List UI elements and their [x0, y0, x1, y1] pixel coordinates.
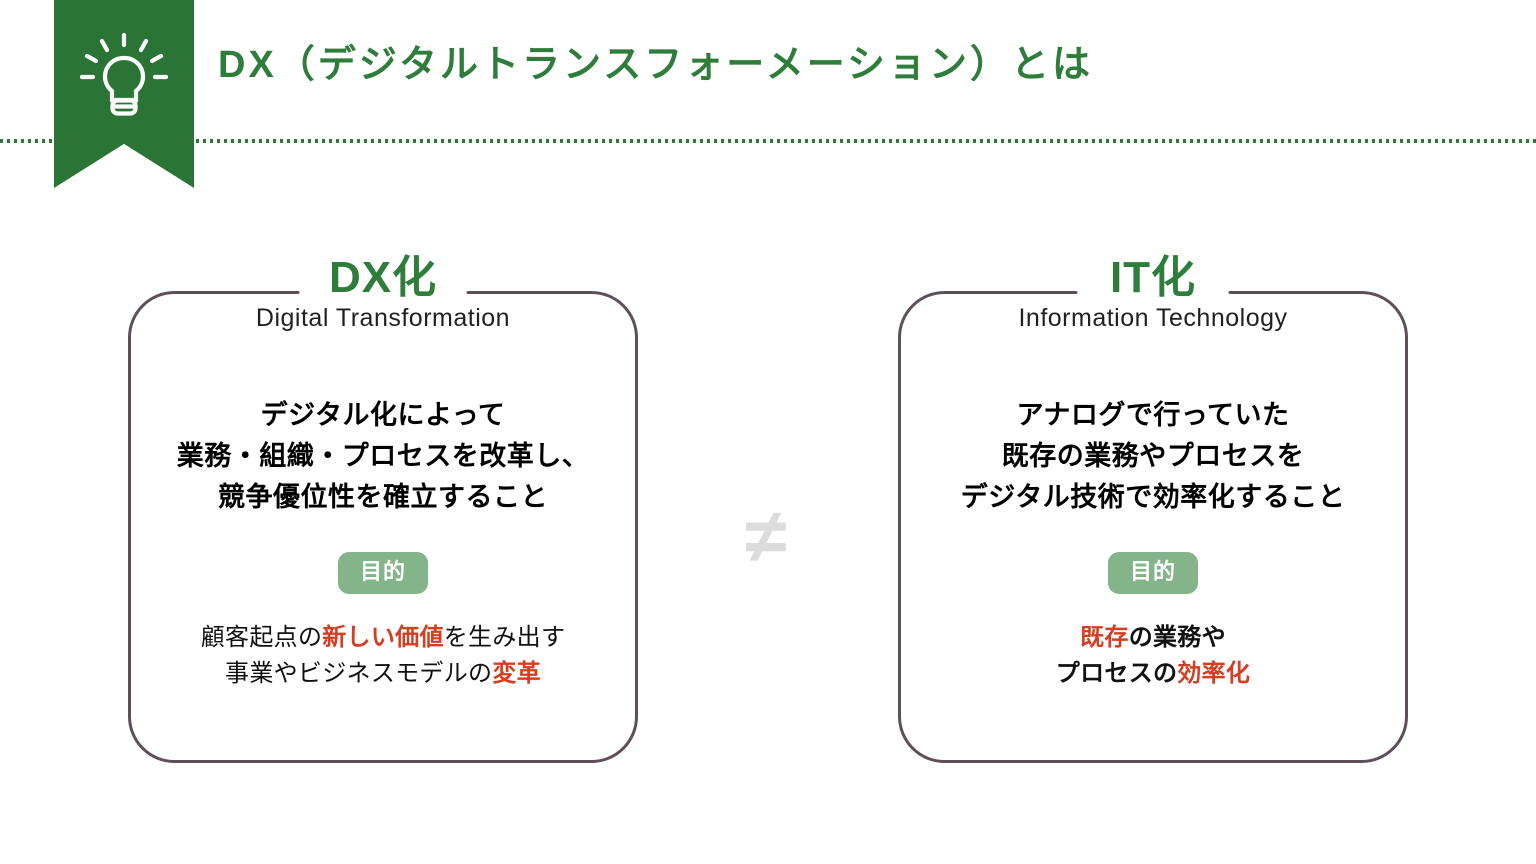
purpose-line: プロセスの効率化 — [898, 656, 1408, 692]
definition-line: デジタル技術で効率化すること — [898, 477, 1408, 518]
page-header: DX（デジタルトランスフォーメーション）とは — [0, 0, 1536, 200]
purpose-badge-wrap: 目的 — [128, 552, 638, 594]
not-equal-symbol: ≠ — [724, 492, 808, 582]
card-it: IT化 Information Technology アナログで行っていた 既存… — [898, 291, 1408, 763]
purpose-run: の業務や — [1129, 624, 1226, 651]
definition-text: アナログで行っていた 既存の業務やプロセスを デジタル技術で効率化すること — [898, 395, 1408, 518]
purpose-line: 顧客起点の新しい価値を生み出す — [128, 620, 638, 656]
purpose-highlight: 効率化 — [1177, 660, 1250, 687]
purpose-text: 既存の業務やプロセスの効率化 — [898, 620, 1408, 692]
definition-line: アナログで行っていた — [898, 395, 1408, 436]
card-body: アナログで行っていた 既存の業務やプロセスを デジタル技術で効率化すること 目的… — [898, 395, 1408, 692]
definition-line: デジタル化によって — [128, 395, 638, 436]
definition-text: デジタル化によって 業務・組織・プロセスを改革し、 競争優位性を確立すること — [128, 395, 638, 518]
purpose-text: 顧客起点の新しい価値を生み出す事業やビジネスモデルの変革 — [128, 620, 638, 692]
purpose-badge: 目的 — [338, 552, 428, 594]
page-title: DX（デジタルトランスフォーメーション）とは — [218, 46, 1093, 84]
dotted-divider — [0, 139, 1536, 143]
purpose-badge-wrap: 目的 — [898, 552, 1408, 594]
definition-line: 競争優位性を確立すること — [128, 477, 638, 518]
card-body: デジタル化によって 業務・組織・プロセスを改革し、 競争優位性を確立すること 目… — [128, 395, 638, 692]
purpose-highlight: 既存 — [1080, 624, 1129, 651]
purpose-run: 事業やビジネスモデルの — [225, 660, 492, 687]
purpose-line: 既存の業務や — [898, 620, 1408, 656]
purpose-highlight: 新しい価値 — [322, 624, 444, 651]
definition-line: 業務・組織・プロセスを改革し、 — [128, 436, 638, 477]
purpose-highlight: 変革 — [492, 660, 541, 687]
purpose-line: 事業やビジネスモデルの変革 — [128, 656, 638, 692]
definition-line: 既存の業務やプロセスを — [898, 436, 1408, 477]
purpose-run: 顧客起点の — [201, 624, 323, 651]
card-dx: DX化 Digital Transformation デジタル化によって 業務・… — [128, 291, 638, 763]
lightbulb-icon — [74, 30, 174, 130]
purpose-run: プロセスの — [1056, 660, 1178, 687]
purpose-badge: 目的 — [1108, 552, 1198, 594]
purpose-run: を生み出す — [444, 624, 566, 651]
